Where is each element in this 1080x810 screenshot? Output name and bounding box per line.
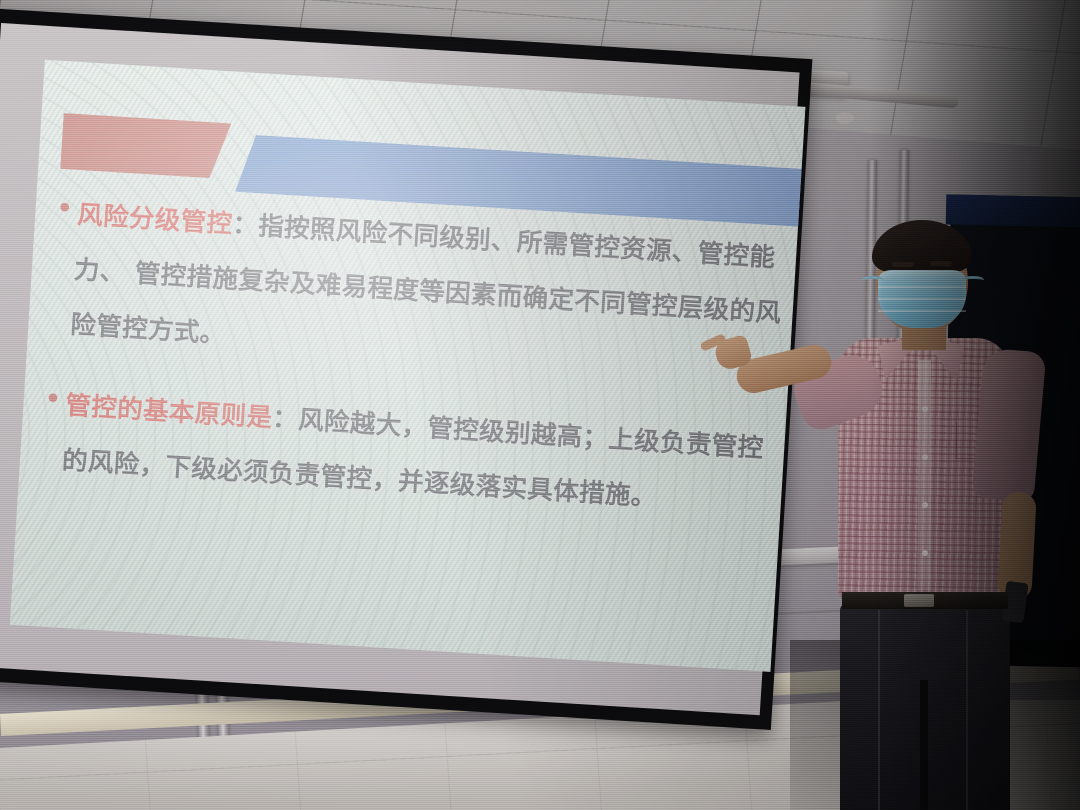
mask-strap-right: [962, 276, 984, 287]
presenter-hair: [872, 220, 972, 272]
shirt-button-4: [922, 550, 928, 556]
shirt-button-1: [922, 406, 928, 412]
presenter-eyebrow-right: [930, 261, 952, 266]
mask-pleat-3: [878, 310, 966, 312]
slide-banner-red-shape: [60, 113, 231, 179]
shirt-button-3: [922, 502, 928, 508]
slide-bullet-2: • 管控的基本原则是：风险越大，管控级别越高；上级负责管控 的风险，下级必须负责…: [34, 377, 779, 533]
belt-buckle: [904, 594, 934, 607]
presenter: [760, 210, 1060, 810]
presenter-eyebrow-left: [892, 262, 914, 267]
projected-slide: • 风险分级管控：指按照风险不同级别、所需管控资源、管控能 力、 管控措施复杂及…: [10, 60, 806, 672]
trouser-crease-left: [878, 610, 880, 810]
bullet-marker: •: [50, 186, 79, 232]
shirt-button-2: [922, 454, 928, 460]
bullet-marker-2: •: [39, 377, 68, 423]
bullet-1-highlight: 风险分级管控: [76, 200, 233, 240]
projection-screen: • 风险分级管控：指按照风险不同级别、所需管控资源、管控能 力、 管控措施复杂及…: [0, 8, 812, 730]
presenter-right-sleeve: [972, 348, 1047, 503]
presenter-leg-gap: [920, 680, 928, 810]
smoke-detector-icon: [836, 112, 854, 124]
photo-scene: • 风险分级管控：指按照风险不同级别、所需管控资源、管控能 力、 管控措施复杂及…: [0, 0, 1080, 810]
mask-strap-left: [862, 276, 884, 287]
bullet-2-highlight: 管控的基本原则是: [65, 391, 274, 434]
bullet-2-text: 管控的基本原则是：风险越大，管控级别越高；上级负责管控 的风险，下级必须负责管控…: [60, 379, 779, 533]
face-mask-icon: [878, 270, 966, 328]
mask-pleat-2: [878, 298, 966, 300]
trouser-crease-right: [966, 610, 968, 810]
mask-pleat-1: [878, 286, 966, 288]
slide-content: • 风险分级管控：指按照风险不同级别、所需管控资源、管控能 力、 管控措施复杂及…: [34, 186, 791, 536]
